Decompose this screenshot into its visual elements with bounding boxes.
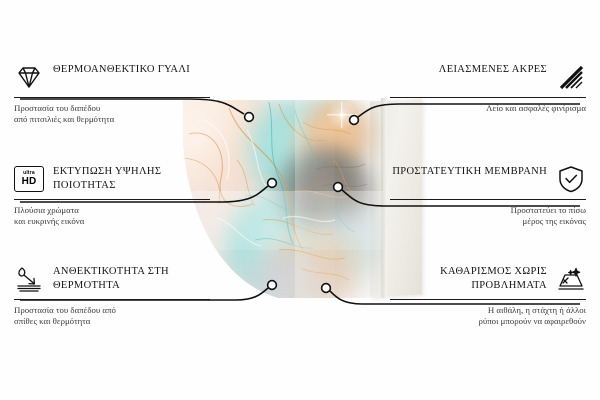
feature-subtitle-line: Προστασία του δαπέδου [14,103,210,114]
feature-protective-membrane: ΠΡΟΣΤΑΤΕΥΤΙΚΗ ΜΕΜΒΡΑΝΗ Προστατεύει το πί… [390,164,586,227]
feature-header: ultra HD ΕΚΤΥΠΩΣΗ ΥΨΗΛΗΣ ΠΟΙΟΤΗΤΑΣ [14,164,210,194]
feature-header: ΠΡΟΣΤΑΤΕΥΤΙΚΗ ΜΕΜΒΡΑΝΗ [390,164,586,194]
feature-title: ΑΝΘΕΚΤΙΚΟΤΗΤΑ ΣΤΗ ΘΕΡΜΟΤΗΤΑ [53,264,210,292]
divider [14,299,210,300]
feature-subtitle-line: Λείο και ασφαλές φινίρισμα [390,103,586,114]
ultra-hd-icon: ultra HD [14,164,44,194]
feature-easy-cleaning: ΚΑΘΑΡΙΣΜΟΣ ΧΩΡΙΣ ΠΡΟΒΛΗΜΑΤΑ Η αιθάλη, η … [390,264,586,327]
feature-subtitle-line: μέρος της εικόνας [390,216,586,227]
feature-title: ΛΕΙΑΣΜΕΝΕΣ ΑΚΡΕΣ [439,62,547,77]
feature-subtitle-line: Προστατεύει το πίσω [390,205,586,216]
feature-subtitle: Η αιθάλη, η στάχτη ή άλλοι ρύποι μπορούν… [390,305,586,327]
feature-title: ΘΕΡΜΟΑΝΘΕΚΤΙΚΟ ΓΥΑΛΙ [53,62,190,77]
feature-title: ΚΑΘΑΡΙΣΜΟΣ ΧΩΡΙΣ ΠΡΟΒΛΗΜΑΤΑ [390,264,547,292]
feature-subtitle: Πλούσια χρώματα και ευκρινής εικόνα [14,205,210,227]
feature-heat-resistant-glass: ΘΕΡΜΟΑΝΘΕΚΤΙΚΟ ΓΥΑΛΙ Προστασία του δαπέδ… [14,62,210,125]
feature-subtitle-line: ρύποι μπορούν να αφαιρεθούν [390,316,586,327]
divider [14,199,210,200]
polished-edges-icon [556,62,586,92]
divider [390,199,586,200]
diamond-icon [14,62,44,92]
feature-subtitle-line: Η αιθάλη, η στάχτη ή άλλοι [390,305,586,316]
feature-header: ΘΕΡΜΟΑΝΘΕΚΤΙΚΟ ΓΥΑΛΙ [14,62,210,92]
feature-subtitle-line: σπίθες και θερμότητα [14,316,210,327]
ultra-hd-label-bottom: HD [22,177,37,187]
feature-subtitle-line: από πιτσιλιές και θερμότητα [14,114,210,125]
shield-check-icon [556,164,586,194]
infographic-stage: ΘΕΡΜΟΑΝΘΕΚΤΙΚΟ ΓΥΑΛΙ Προστασία του δαπέδ… [0,0,600,400]
feature-heat-durability: ΑΝΘΕΚΤΙΚΟΤΗΤΑ ΣΤΗ ΘΕΡΜΟΤΗΤΑ Προστασία το… [14,264,210,327]
divider [390,299,586,300]
feature-header: ΛΕΙΑΣΜΕΝΕΣ ΑΚΡΕΣ [390,62,586,92]
feature-title: ΕΚΤΥΠΩΣΗ ΥΨΗΛΗΣ ΠΟΙΟΤΗΤΑΣ [53,164,210,192]
feature-subtitle: Προστασία του δαπέδου από σπίθες και θερ… [14,305,210,327]
divider [14,97,210,98]
glass-artwork [183,100,383,298]
easy-clean-icon [556,264,586,294]
divider [390,97,586,98]
feature-subtitle-line: Πλούσια χρώματα [14,205,210,216]
feature-subtitle-line: Προστασία του δαπέδου από [14,305,210,316]
feature-subtitle: Λείο και ασφαλές φινίρισμα [390,103,586,114]
feature-header: ΑΝΘΕΚΤΙΚΟΤΗΤΑ ΣΤΗ ΘΕΡΜΟΤΗΤΑ [14,264,210,294]
product-image [175,92,425,320]
feature-high-quality-print: ultra HD ΕΚΤΥΠΩΣΗ ΥΨΗΛΗΣ ΠΟΙΟΤΗΤΑΣ Πλούσ… [14,164,210,227]
feature-header: ΚΑΘΑΡΙΣΜΟΣ ΧΩΡΙΣ ΠΡΟΒΛΗΜΑΤΑ [390,264,586,294]
glass-panel [183,100,383,298]
feature-subtitle: Προστατεύει το πίσω μέρος της εικόνας [390,205,586,227]
heat-resistant-icon [14,264,44,294]
feature-subtitle: Προστασία του δαπέδου από πιτσιλιές και … [14,103,210,125]
ink-veins [183,100,383,298]
feature-subtitle-line: και ευκρινής εικόνα [14,216,210,227]
feature-title: ΠΡΟΣΤΑΤΕΥΤΙΚΗ ΜΕΜΒΡΑΝΗ [392,164,547,179]
feature-polished-edges: ΛΕΙΑΣΜΕΝΕΣ ΑΚΡΕΣ Λείο και ασφαλές φινίρι… [390,62,586,114]
